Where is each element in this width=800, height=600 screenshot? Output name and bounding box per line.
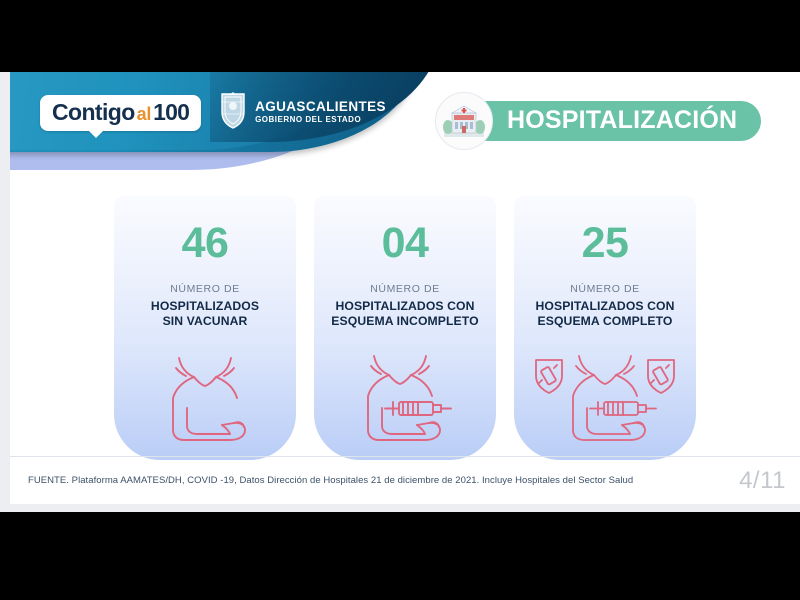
source-note: FUENTE. Plataforma AAMATES/DH, COVID -19…	[28, 475, 633, 486]
stat-label-line2: ESQUEMA COMPLETO	[538, 314, 673, 328]
stat-card-sin-vacunar: 46 NÚMERO DE HOSPITALIZADOS SIN VACUNAR	[114, 196, 296, 460]
slide-footer: FUENTE. Plataforma AAMATES/DH, COVID -19…	[10, 456, 800, 504]
page-title: HOSPITALIZACIÓN	[507, 106, 737, 135]
patient-arm-one-syringe-icon	[314, 348, 496, 452]
slide-frame: Contigo al 100	[0, 72, 800, 512]
patient-arm-icon	[114, 348, 296, 452]
presentation-slide: Contigo al 100	[0, 72, 800, 512]
stat-label-line2: SIN VACUNAR	[163, 314, 248, 328]
stat-card-esquema-completo: 25 NÚMERO DE HOSPITALIZADOS CON ESQUEMA …	[514, 196, 696, 460]
stat-number: 46	[182, 222, 229, 265]
contigo-al-100-logo: Contigo al 100	[40, 95, 201, 131]
stat-card-esquema-incompleto: 04 NÚMERO DE HOSPITALIZADOS CON ESQUEMA …	[314, 196, 496, 460]
gov-subtitle: GOBIERNO DEL ESTADO	[255, 116, 386, 124]
hospital-building-icon	[435, 92, 493, 150]
stat-kicker: NÚMERO DE	[370, 283, 440, 295]
stat-label-line1: HOSPITALIZADOS CON	[335, 299, 474, 313]
page-number: 4/11	[739, 467, 786, 495]
patient-arm-two-shields-syringe-icon	[514, 348, 696, 452]
stat-number: 25	[582, 222, 629, 265]
stat-kicker: NÚMERO DE	[570, 283, 640, 295]
stat-label: HOSPITALIZADOS SIN VACUNAR	[151, 299, 259, 330]
stat-number: 04	[382, 222, 429, 265]
slide-canvas: Contigo al 100	[10, 72, 800, 504]
slide-title-group: HOSPITALIZACIÓN	[435, 92, 761, 150]
logo-word-al: al	[137, 104, 151, 125]
stat-kicker: NÚMERO DE	[170, 283, 240, 295]
logo-word-contigo: Contigo	[52, 99, 135, 126]
stat-label-line1: HOSPITALIZADOS	[151, 299, 259, 313]
stat-label: HOSPITALIZADOS CON ESQUEMA INCOMPLETO	[331, 299, 478, 330]
brand-logo-group: Contigo al 100	[40, 90, 386, 135]
logo-word-100: 100	[153, 99, 189, 126]
stat-label: HOSPITALIZADOS CON ESQUEMA COMPLETO	[535, 299, 674, 330]
screen: Contigo al 100	[0, 0, 800, 600]
stat-label-line1: HOSPITALIZADOS CON	[535, 299, 674, 313]
government-logo-group: AGUASCALIENTES GOBIERNO DEL ESTADO	[219, 90, 386, 135]
gov-title: AGUASCALIENTES	[255, 100, 386, 114]
coat-of-arms-icon	[219, 90, 247, 135]
government-logo-text: AGUASCALIENTES GOBIERNO DEL ESTADO	[255, 100, 386, 125]
slide-title-pill: HOSPITALIZACIÓN	[467, 101, 761, 141]
stat-card-list: 46 NÚMERO DE HOSPITALIZADOS SIN VACUNAR	[10, 196, 800, 460]
stat-label-line2: ESQUEMA INCOMPLETO	[331, 314, 478, 328]
